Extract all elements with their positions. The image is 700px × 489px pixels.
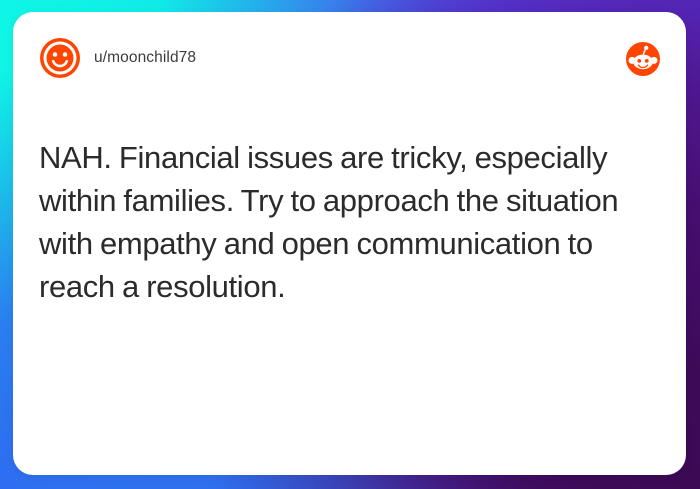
smiley-face-avatar-icon — [39, 37, 81, 79]
avatar[interactable] — [39, 37, 81, 79]
reddit-comment-card: u/moonchild78 NAH. Financial issues are … — [13, 12, 686, 475]
card-header: u/moonchild78 — [39, 36, 658, 80]
username-label: u/moonchild78 — [94, 49, 196, 67]
reddit-snoo-logo-icon[interactable] — [626, 42, 660, 76]
screenshot-canvas: u/moonchild78 NAH. Financial issues are … — [0, 0, 700, 489]
post-body-text: NAH. Financial issues are tricky, especi… — [39, 136, 639, 308]
